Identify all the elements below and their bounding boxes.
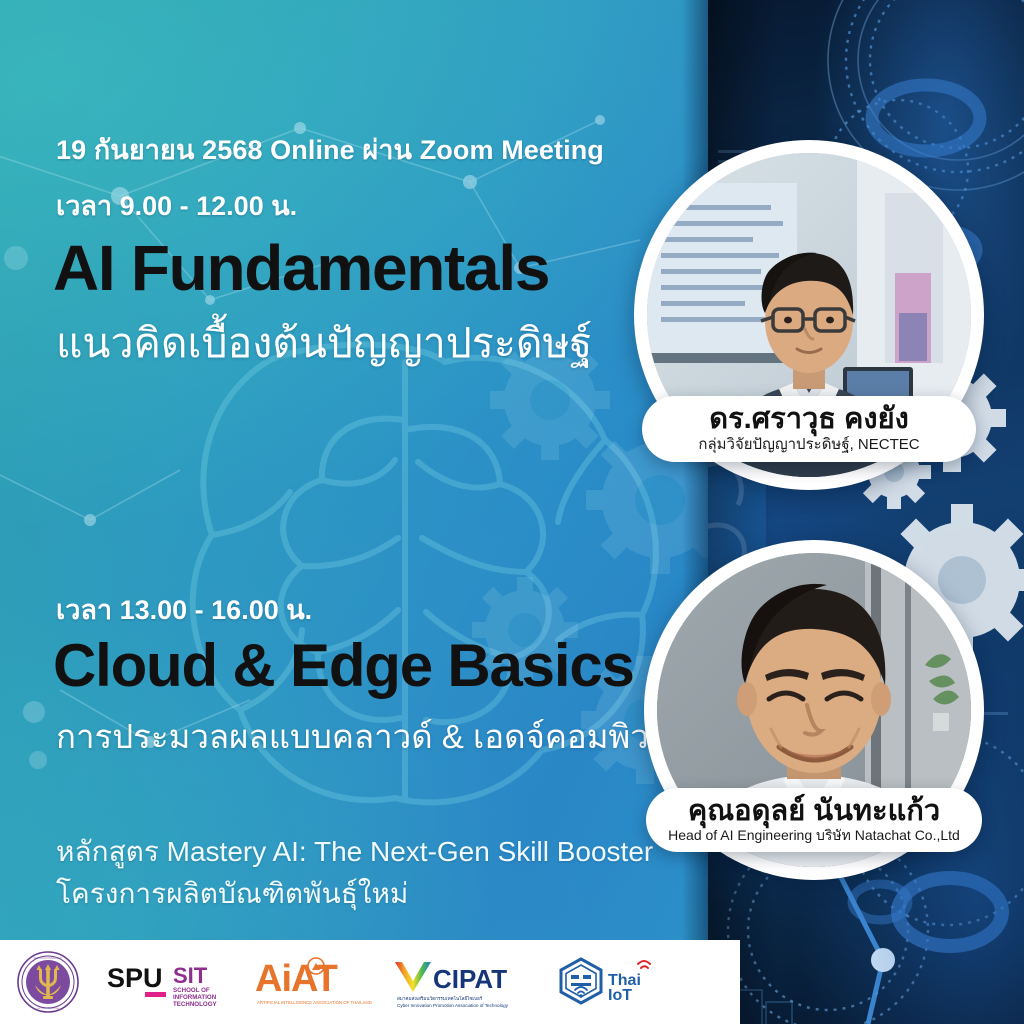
speaker-card-2: คุณอดุลย์ นันทะแก้ว Head of AI Engineeri…: [644, 540, 984, 880]
footer-program-line: หลักสูตร Mastery AI: The Next-Gen Skill …: [56, 830, 653, 874]
logo-sit-text: SIT: [173, 963, 208, 988]
speaker-1-name: ดร.ศราวุธ คงยัง: [709, 403, 909, 435]
poster-root: 19 กันยายน 2568 Online ผ่าน Zoom Meeting…: [0, 0, 1024, 1024]
session2-time: เวลา 13.00 - 16.00 น.: [56, 588, 312, 631]
speaker-1-role: กลุ่มวิจัยปัญญาประดิษฐ์, NECTEC: [698, 436, 919, 453]
speaker-2-name-plate: คุณอดุลย์ นันทะแก้ว Head of AI Engineeri…: [646, 788, 982, 852]
speaker-1-name-plate: ดร.ศราวุธ คงยัง กลุ่มวิจัยปัญญาประดิษฐ์,…: [642, 396, 976, 462]
partner-logo-bar: SRIPATUM UNIVERSITY มหาวิทยาลัยศรีปทุม S…: [0, 940, 740, 1024]
logo-aiat-tagline: ARTIFICIAL INTELLIGENCE ASSOCIATION OF T…: [257, 1000, 372, 1005]
logo-spu-seal: SRIPATUM UNIVERSITY มหาวิทยาลัยศรีปทุม: [0, 940, 96, 1024]
speaker-2-name: คุณอดุลย์ นันทะแก้ว: [688, 795, 940, 827]
session1-time: เวลา 9.00 - 12.00 น.: [56, 184, 297, 227]
speaker-card-1: ดร.ศราวุธ คงยัง กลุ่มวิจัยปัญญาประดิษฐ์,…: [634, 140, 984, 490]
svg-text:SCHOOL OF: SCHOOL OF: [173, 987, 210, 994]
logo-cipat-text: CIPAT: [433, 964, 507, 994]
session1-subtitle: แนวคิดเบื้องต้นปัญญาประดิษฐ์: [56, 320, 592, 367]
logo-cipat: CIPAT สมาคมส่งเสริมนวัตกรรมเทคโนโลยีไซเบ…: [386, 940, 546, 1024]
svg-text:SRIPATUM UNIVERSITY: SRIPATUM UNIVERSITY: [33, 956, 63, 960]
event-date-line: 19 กันยายน 2568 Online ผ่าน Zoom Meeting: [56, 128, 604, 171]
footer-project-line: โครงการผลิตบัณฑิตพันธุ์ใหม่: [56, 872, 408, 916]
svg-text:INFORMATION: INFORMATION: [173, 994, 217, 1001]
text-column: 19 กันยายน 2568 Online ผ่าน Zoom Meeting…: [56, 0, 656, 1024]
logo-aiat-text: AiAT: [255, 958, 338, 1000]
speaker-2-role: Head of AI Engineering บริษัท Natachat C…: [668, 827, 960, 843]
logo-aiat: AiAT ARTIFICIAL INTELLIGENCE ASSOCIATION…: [246, 940, 386, 1024]
svg-text:TECHNOLOGY: TECHNOLOGY: [173, 1001, 218, 1007]
logo-cipat-tagline-th: สมาคมส่งเสริมนวัตกรรมเทคโนโลยีไซเบอร์: [397, 995, 483, 1001]
session2-subtitle: การประมวลผลแบบคลาวด์ & เอดจ์คอมพิวติ้ง: [56, 718, 686, 756]
logo-thaiot-line2: IoT: [608, 987, 632, 1004]
logo-thai-iot: Thai IoT: [546, 940, 676, 1024]
logo-spu-sit: SPU SIT SCHOOL OF INFORMATION TECHNOLOGY: [96, 940, 246, 1024]
session1-title: AI Fundamentals: [53, 236, 549, 300]
logo-cipat-tagline-en: Cyber Innovation Promotion Association o…: [397, 1003, 509, 1008]
logo-spu-text: SPU: [107, 963, 163, 993]
session2-title: Cloud & Edge Basics: [53, 636, 634, 696]
